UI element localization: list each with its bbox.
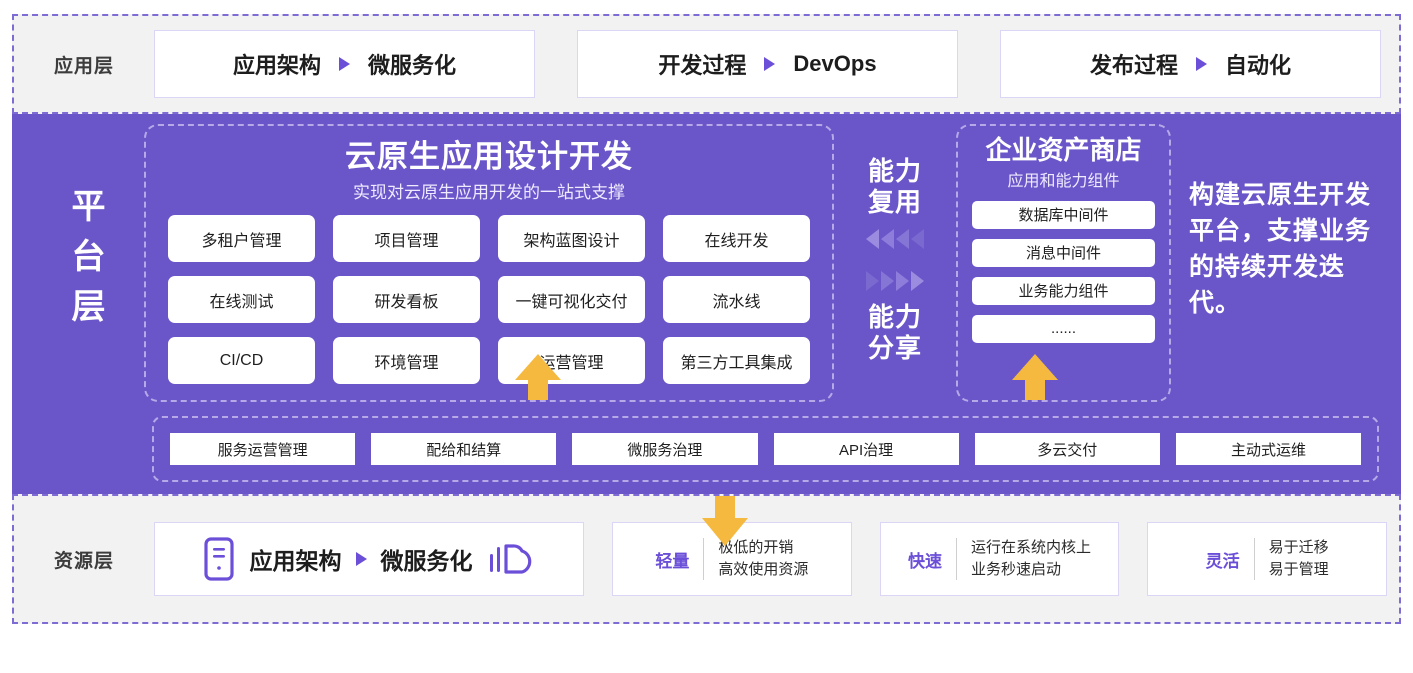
asset-store-item-list: 数据库中间件 消息中间件 业务能力组件 ...... <box>972 201 1155 343</box>
resource-card-list: 应用架构 微服务化 轻量 极低的开销 高效使用资源 <box>154 522 1387 596</box>
application-card-left-text: 发布过程 <box>1090 48 1178 80</box>
arrow-row-right <box>866 271 924 291</box>
capability-exchange-column: 能力 复用 能力 分享 <box>834 124 956 402</box>
application-layer-label: 应用层 <box>14 51 154 78</box>
arrow-up-design-icon <box>515 354 561 398</box>
resource-feature-card-flexible[interactable]: 灵活 易于迁移 易于管理 <box>1147 522 1387 596</box>
triangle-right-icon <box>896 271 909 291</box>
application-card-right-text: DevOps <box>793 51 876 77</box>
triangle-right-icon <box>911 271 924 291</box>
asset-store-subtitle: 应用和能力组件 <box>972 167 1155 191</box>
design-tile[interactable]: CI/CD <box>168 337 315 384</box>
feature-line-2: 高效使用资源 <box>718 561 808 578</box>
asset-store-title: 企业资产商店 <box>972 136 1155 165</box>
triangle-right-icon <box>866 271 879 291</box>
design-tile[interactable]: 第三方工具集成 <box>663 337 810 384</box>
platform-layer-label: 平台层 <box>26 124 144 402</box>
feature-divider <box>1254 538 1255 580</box>
feature-divider <box>956 538 957 580</box>
arrow-up-store-icon <box>1012 354 1058 398</box>
platform-layer: 平台层 云原生应用设计开发 实现对云原生应用开发的一站式支撑 多租户管理 项目管… <box>12 114 1401 494</box>
design-tile[interactable]: 一键可视化交付 <box>498 276 645 323</box>
platform-ops-strip: 服务运营管理 配给和结算 微服务治理 API治理 多云交付 主动式运维 <box>152 416 1379 482</box>
feature-key: 灵活 <box>1206 547 1240 572</box>
feature-key: 轻量 <box>655 547 689 572</box>
platform-slogan: 构建云原生开发平台，支撑业务的持续开发迭代。 <box>1171 124 1399 402</box>
asset-store-panel: 企业资产商店 应用和能力组件 数据库中间件 消息中间件 业务能力组件 .....… <box>956 124 1171 402</box>
design-tile[interactable]: 环境管理 <box>333 337 480 384</box>
resource-main-card[interactable]: 应用架构 微服务化 <box>154 522 584 596</box>
capability-share-label-line1: 能力 <box>868 303 922 332</box>
platform-top-row: 平台层 云原生应用设计开发 实现对云原生应用开发的一站式支撑 多租户管理 项目管… <box>26 124 1387 402</box>
triangle-right-icon <box>356 552 367 566</box>
design-tile[interactable]: 研发看板 <box>333 276 480 323</box>
application-card-left-text: 开发过程 <box>658 48 746 80</box>
server-icon <box>204 537 234 581</box>
ops-item[interactable]: 微服务治理 <box>572 433 757 465</box>
resource-main-right-text: 微服务化 <box>381 542 473 576</box>
triangle-right-icon <box>1196 57 1207 71</box>
design-tile-grid: 多租户管理 项目管理 架构蓝图设计 在线开发 在线测试 研发看板 一键可视化交付… <box>168 215 810 384</box>
triangle-right-icon <box>764 57 775 71</box>
triangle-left-icon <box>881 229 894 249</box>
resource-main-card-text: 应用架构 微服务化 <box>250 542 473 576</box>
design-tile[interactable]: 架构蓝图设计 <box>498 215 645 262</box>
platform-layer-label-text: 平台层 <box>68 188 102 338</box>
feature-key: 快速 <box>908 547 942 572</box>
application-card-devprocess[interactable]: 开发过程 DevOps <box>577 30 958 98</box>
feature-description: 运行在系统内核上 业务秒速启动 <box>971 537 1091 581</box>
application-card-left-text: 应用架构 <box>233 48 321 80</box>
design-tile[interactable]: 流水线 <box>663 276 810 323</box>
design-panel-subtitle: 实现对云原生应用开发的一站式支撑 <box>168 178 810 203</box>
diagram-root: 应用层 应用架构 微服务化 开发过程 DevOps 发布过程 自动化 平台 <box>0 0 1413 673</box>
resource-layer-label: 资源层 <box>14 546 154 573</box>
asset-store-item[interactable]: 数据库中间件 <box>972 201 1155 229</box>
ops-item[interactable]: 服务运营管理 <box>170 433 355 465</box>
arrow-down-resource-icon <box>702 496 748 546</box>
triangle-right-icon <box>881 271 894 291</box>
ops-item[interactable]: 主动式运维 <box>1176 433 1361 465</box>
triangle-left-icon <box>866 229 879 249</box>
application-card-architecture[interactable]: 应用架构 微服务化 <box>154 30 535 98</box>
asset-store-item[interactable]: 业务能力组件 <box>972 277 1155 305</box>
feature-line-2: 业务秒速启动 <box>971 561 1061 578</box>
feature-line-2: 易于管理 <box>1269 561 1329 578</box>
resource-main-left-text: 应用架构 <box>250 542 342 576</box>
design-panel: 云原生应用设计开发 实现对云原生应用开发的一站式支撑 多租户管理 项目管理 架构… <box>144 124 834 402</box>
feature-line-1: 运行在系统内核上 <box>971 539 1091 556</box>
ops-item[interactable]: API治理 <box>774 433 959 465</box>
application-card-right-text: 微服务化 <box>368 48 456 80</box>
capability-share-label-line2: 分享 <box>868 334 922 363</box>
resource-feature-card-fast[interactable]: 快速 运行在系统内核上 业务秒速启动 <box>880 522 1120 596</box>
application-card-release[interactable]: 发布过程 自动化 <box>1000 30 1381 98</box>
design-panel-title: 云原生应用设计开发 <box>168 140 810 174</box>
cloud-icon <box>489 542 535 576</box>
feature-description: 易于迁移 易于管理 <box>1269 537 1329 581</box>
triangle-left-icon <box>911 229 924 249</box>
platform-slogan-text: 构建云原生开发平台，支撑业务的持续开发迭代。 <box>1189 177 1385 322</box>
capability-reuse-label-line1: 能力 <box>868 157 922 186</box>
arrow-row-left <box>866 229 924 249</box>
feature-line-1: 易于迁移 <box>1269 539 1329 556</box>
design-tile[interactable]: 在线开发 <box>663 215 810 262</box>
application-card-right-text: 自动化 <box>1225 48 1291 80</box>
ops-item[interactable]: 配给和结算 <box>371 433 556 465</box>
triangle-left-icon <box>896 229 909 249</box>
ops-item[interactable]: 多云交付 <box>975 433 1160 465</box>
application-card-list: 应用架构 微服务化 开发过程 DevOps 发布过程 自动化 <box>154 30 1389 98</box>
design-tile[interactable]: 多租户管理 <box>168 215 315 262</box>
design-tile[interactable]: 在线测试 <box>168 276 315 323</box>
application-layer: 应用层 应用架构 微服务化 开发过程 DevOps 发布过程 自动化 <box>12 14 1401 114</box>
triangle-right-icon <box>339 57 350 71</box>
asset-store-item[interactable]: 消息中间件 <box>972 239 1155 267</box>
design-tile[interactable]: 项目管理 <box>333 215 480 262</box>
asset-store-item-more[interactable]: ...... <box>972 315 1155 343</box>
capability-reuse-label-line2: 复用 <box>868 188 922 217</box>
